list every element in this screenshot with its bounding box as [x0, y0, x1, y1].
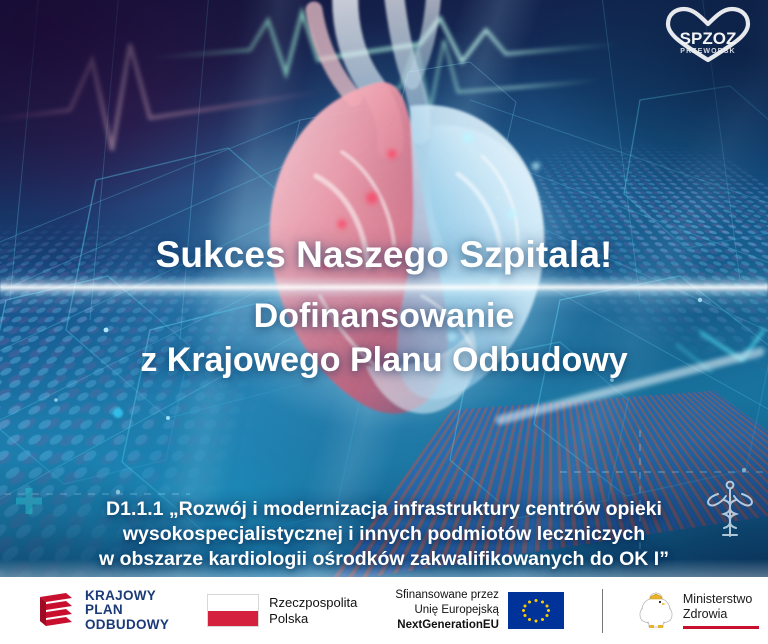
polska-wordmark: Rzeczpospolita Polska: [269, 595, 357, 627]
eu-line-3: NextGenerationEU: [397, 619, 499, 631]
ministry-line-1: Ministerstwo: [683, 592, 759, 607]
polska-line-1: Rzeczpospolita: [269, 595, 357, 611]
description-line-3: w obszarze kardiologii ośrodków zakwalif…: [40, 547, 728, 572]
ministry-line-2: Zdrowia: [683, 607, 759, 622]
kpo-wordmark: KRAJOWY PLAN ODBUDOWY: [85, 589, 169, 633]
subheading-line-1: Dofinansowanie: [0, 294, 768, 338]
kpo-line-1: KRAJOWY: [85, 589, 169, 604]
poster-canvas: SPZOZ PRZEWORSK Sukces Naszego Szpitala!: [0, 0, 768, 644]
eu-line-2: Unię Europejską: [395, 603, 499, 618]
polska-line-2: Polska: [269, 611, 357, 627]
kpo-mark-icon: [36, 591, 76, 631]
ministry-wordmark: Ministerstwo Zdrowia: [683, 592, 759, 629]
medical-cross-icon: [16, 488, 42, 514]
subheading: Dofinansowanie z Krajowego Planu Odbudow…: [0, 294, 768, 382]
kpo-line-3: ODBUDOWY: [85, 618, 169, 633]
programme-description: D1.1.1 „Rozwój i modernizacja infrastruk…: [40, 497, 728, 572]
kpo-line-2: PLAN: [85, 603, 169, 618]
funding-logo-bar: KRAJOWY PLAN ODBUDOWY Rzeczpospolita Pol…: [0, 577, 768, 644]
logo-ministerstwo-zdrowia: Ministerstwo Zdrowia: [637, 590, 759, 632]
logo-european-union: Sfinansowane przez Unię Europejską NextG…: [395, 588, 564, 633]
spzoz-city: PRZEWORSK: [680, 48, 735, 55]
headline-line: Sukces Naszego Szpitala!: [0, 232, 768, 278]
eu-flag-icon: [508, 592, 564, 629]
eu-funding-text: Sfinansowane przez Unię Europejską NextG…: [395, 588, 499, 633]
polish-eagle-icon: [637, 590, 675, 632]
logo-krajowy-plan-odbudowy: KRAJOWY PLAN ODBUDOWY: [36, 589, 169, 633]
ministry-red-rule: [683, 626, 759, 629]
spzoz-acronym: SPZOZ: [680, 29, 737, 48]
description-line-1: D1.1.1 „Rozwój i modernizacja infrastruk…: [40, 497, 728, 522]
footer-divider: [602, 589, 603, 633]
logo-rzeczpospolita-polska: Rzeczpospolita Polska: [207, 594, 357, 627]
subheading-line-2: z Krajowego Planu Odbudowy: [0, 338, 768, 382]
description-line-2: wysokospecjalistycznej i innych podmiotó…: [40, 522, 728, 547]
polish-flag-icon: [207, 594, 259, 627]
spzoz-przeworsk-logo: SPZOZ PRZEWORSK: [660, 6, 756, 64]
eu-line-1: Sfinansowane przez: [395, 588, 499, 603]
page-title: Sukces Naszego Szpitala!: [0, 232, 768, 278]
